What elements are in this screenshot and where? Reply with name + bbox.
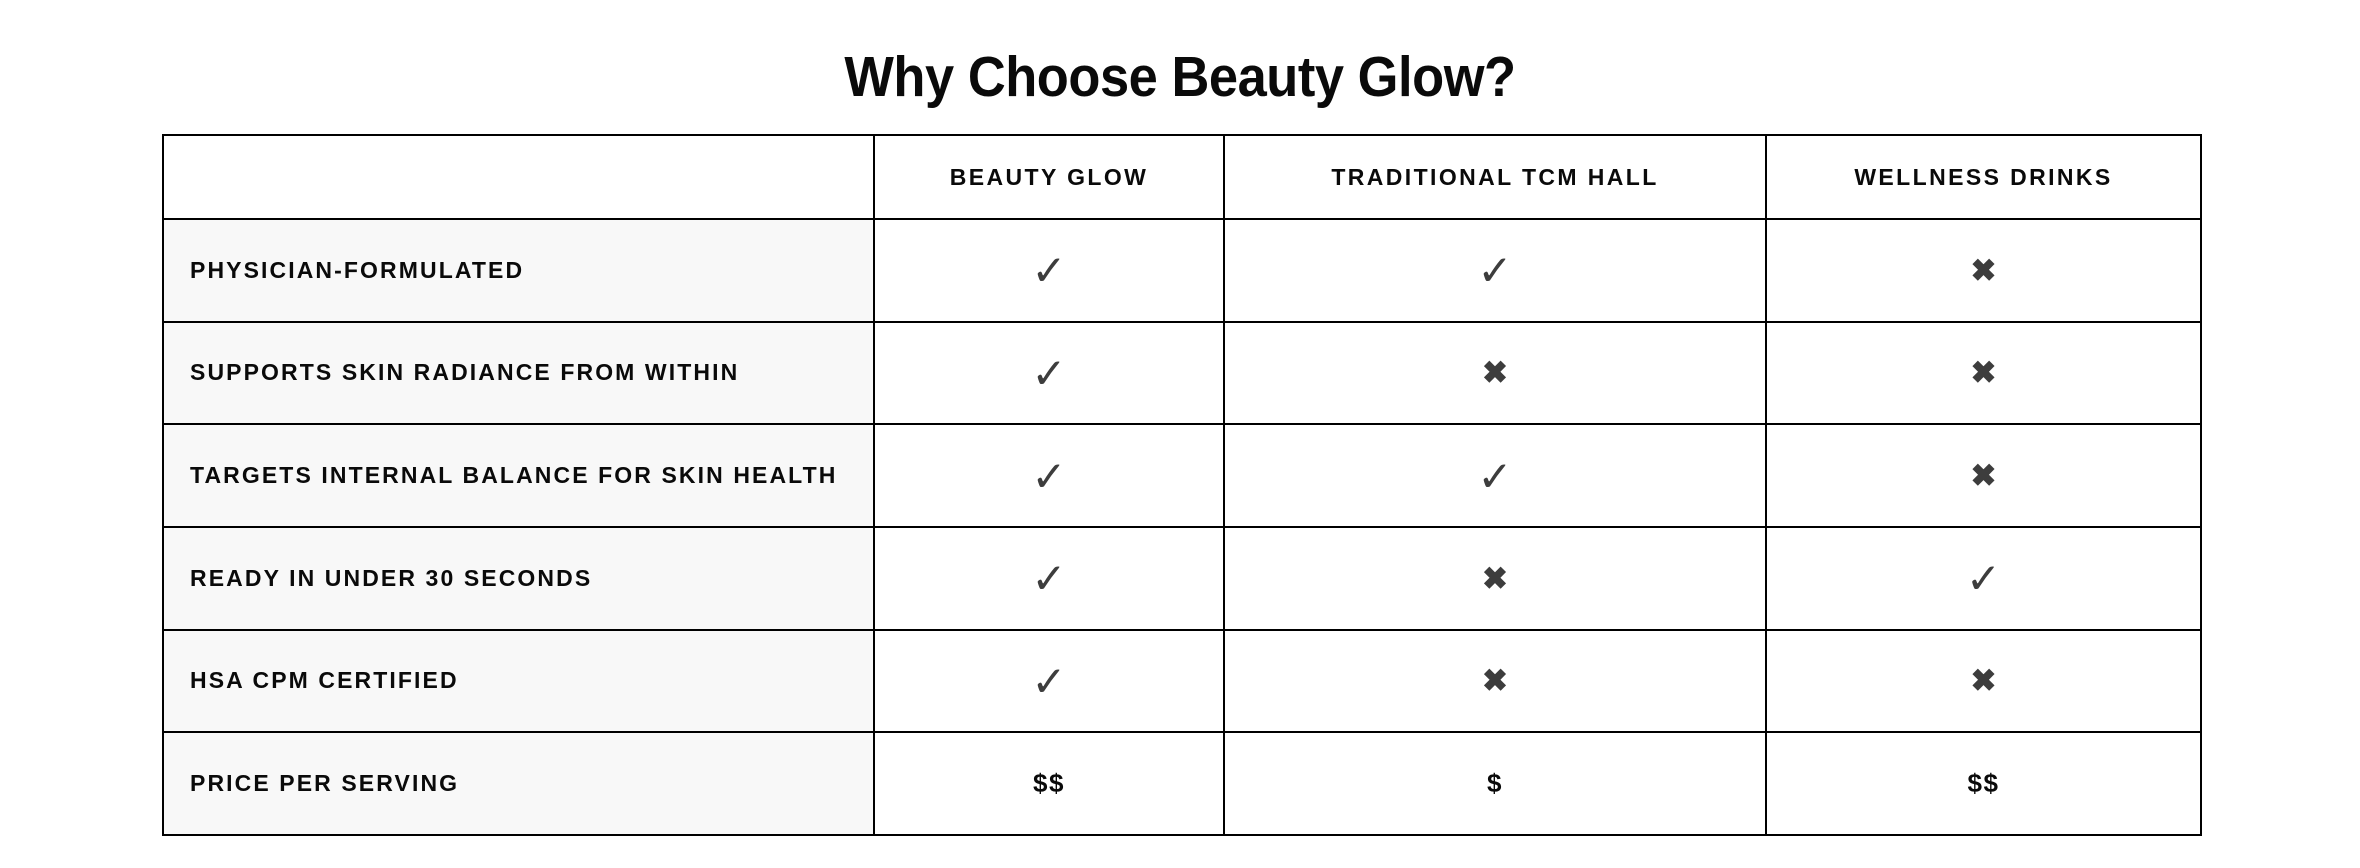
- table-row: SUPPORTS SKIN RADIANCE FROM WITHIN✓✖✖: [163, 322, 2201, 425]
- column-header-beauty-glow: BEAUTY GLOW: [874, 135, 1224, 219]
- table-row: TARGETS INTERNAL BALANCE FOR SKIN HEALTH…: [163, 424, 2201, 527]
- row-label: PRICE PER SERVING: [163, 732, 874, 835]
- cell-beauty_glow: ✓: [874, 322, 1224, 425]
- column-header-traditional-tcm-hall: TRADITIONAL TCM HALL: [1224, 135, 1766, 219]
- cell-traditional_tcm_hall: ✖: [1224, 527, 1766, 630]
- table-header: BEAUTY GLOW TRADITIONAL TCM HALL WELLNES…: [163, 135, 2201, 219]
- row-label: TARGETS INTERNAL BALANCE FOR SKIN HEALTH: [163, 424, 874, 527]
- table-row: HSA CPM CERTIFIED✓✖✖: [163, 630, 2201, 733]
- check-icon: ✓: [1031, 661, 1066, 703]
- cell-wellness_drinks: ✖: [1766, 424, 2201, 527]
- price-value: $$: [1033, 770, 1065, 796]
- comparison-table: BEAUTY GLOW TRADITIONAL TCM HALL WELLNES…: [162, 134, 2202, 836]
- cell-wellness_drinks: ✖: [1766, 630, 2201, 733]
- table-row: READY IN UNDER 30 SECONDS✓✖✓: [163, 527, 2201, 630]
- cross-icon: ✖: [1482, 563, 1508, 594]
- cell-beauty_glow: ✓: [874, 630, 1224, 733]
- check-icon: ✓: [1031, 558, 1066, 600]
- row-label: PHYSICIAN-FORMULATED: [163, 219, 874, 322]
- check-icon: ✓: [1966, 558, 2001, 600]
- table-row: PRICE PER SERVING$$$$$: [163, 732, 2201, 835]
- cell-traditional_tcm_hall: ✖: [1224, 322, 1766, 425]
- check-icon: ✓: [1477, 250, 1512, 292]
- column-header-feature: [163, 135, 874, 219]
- column-header-wellness-drinks: WELLNESS DRINKS: [1766, 135, 2201, 219]
- cross-icon: ✖: [1971, 665, 1997, 696]
- check-icon: ✓: [1477, 456, 1512, 498]
- cell-beauty_glow: ✓: [874, 219, 1224, 322]
- table-body: PHYSICIAN-FORMULATED✓✓✖SUPPORTS SKIN RAD…: [163, 219, 2201, 835]
- comparison-page: Why Choose Beauty Glow? BEAUTY GLOW TRAD…: [0, 0, 2360, 868]
- cell-traditional_tcm_hall: ✓: [1224, 219, 1766, 322]
- row-label: READY IN UNDER 30 SECONDS: [163, 527, 874, 630]
- cell-traditional_tcm_hall: ✓: [1224, 424, 1766, 527]
- row-label: SUPPORTS SKIN RADIANCE FROM WITHIN: [163, 322, 874, 425]
- check-icon: ✓: [1031, 250, 1066, 292]
- cell-wellness_drinks: ✖: [1766, 219, 2201, 322]
- cross-icon: ✖: [1971, 255, 1997, 286]
- price-value: $$: [1968, 770, 2000, 796]
- cross-icon: ✖: [1971, 357, 1997, 388]
- cell-beauty_glow: $$: [874, 732, 1224, 835]
- price-value: $: [1487, 770, 1503, 796]
- table-header-row: BEAUTY GLOW TRADITIONAL TCM HALL WELLNES…: [163, 135, 2201, 219]
- table-row: PHYSICIAN-FORMULATED✓✓✖: [163, 219, 2201, 322]
- check-icon: ✓: [1031, 353, 1066, 395]
- page-title: Why Choose Beauty Glow?: [94, 46, 2265, 109]
- cell-wellness_drinks: ✖: [1766, 322, 2201, 425]
- cell-wellness_drinks: $$: [1766, 732, 2201, 835]
- cell-traditional_tcm_hall: $: [1224, 732, 1766, 835]
- cross-icon: ✖: [1482, 357, 1508, 388]
- cell-beauty_glow: ✓: [874, 424, 1224, 527]
- cell-wellness_drinks: ✓: [1766, 527, 2201, 630]
- cell-beauty_glow: ✓: [874, 527, 1224, 630]
- row-label: HSA CPM CERTIFIED: [163, 630, 874, 733]
- cross-icon: ✖: [1482, 665, 1508, 696]
- comparison-table-wrapper: BEAUTY GLOW TRADITIONAL TCM HALL WELLNES…: [162, 134, 2200, 836]
- check-icon: ✓: [1031, 456, 1066, 498]
- cell-traditional_tcm_hall: ✖: [1224, 630, 1766, 733]
- cross-icon: ✖: [1971, 460, 1997, 491]
